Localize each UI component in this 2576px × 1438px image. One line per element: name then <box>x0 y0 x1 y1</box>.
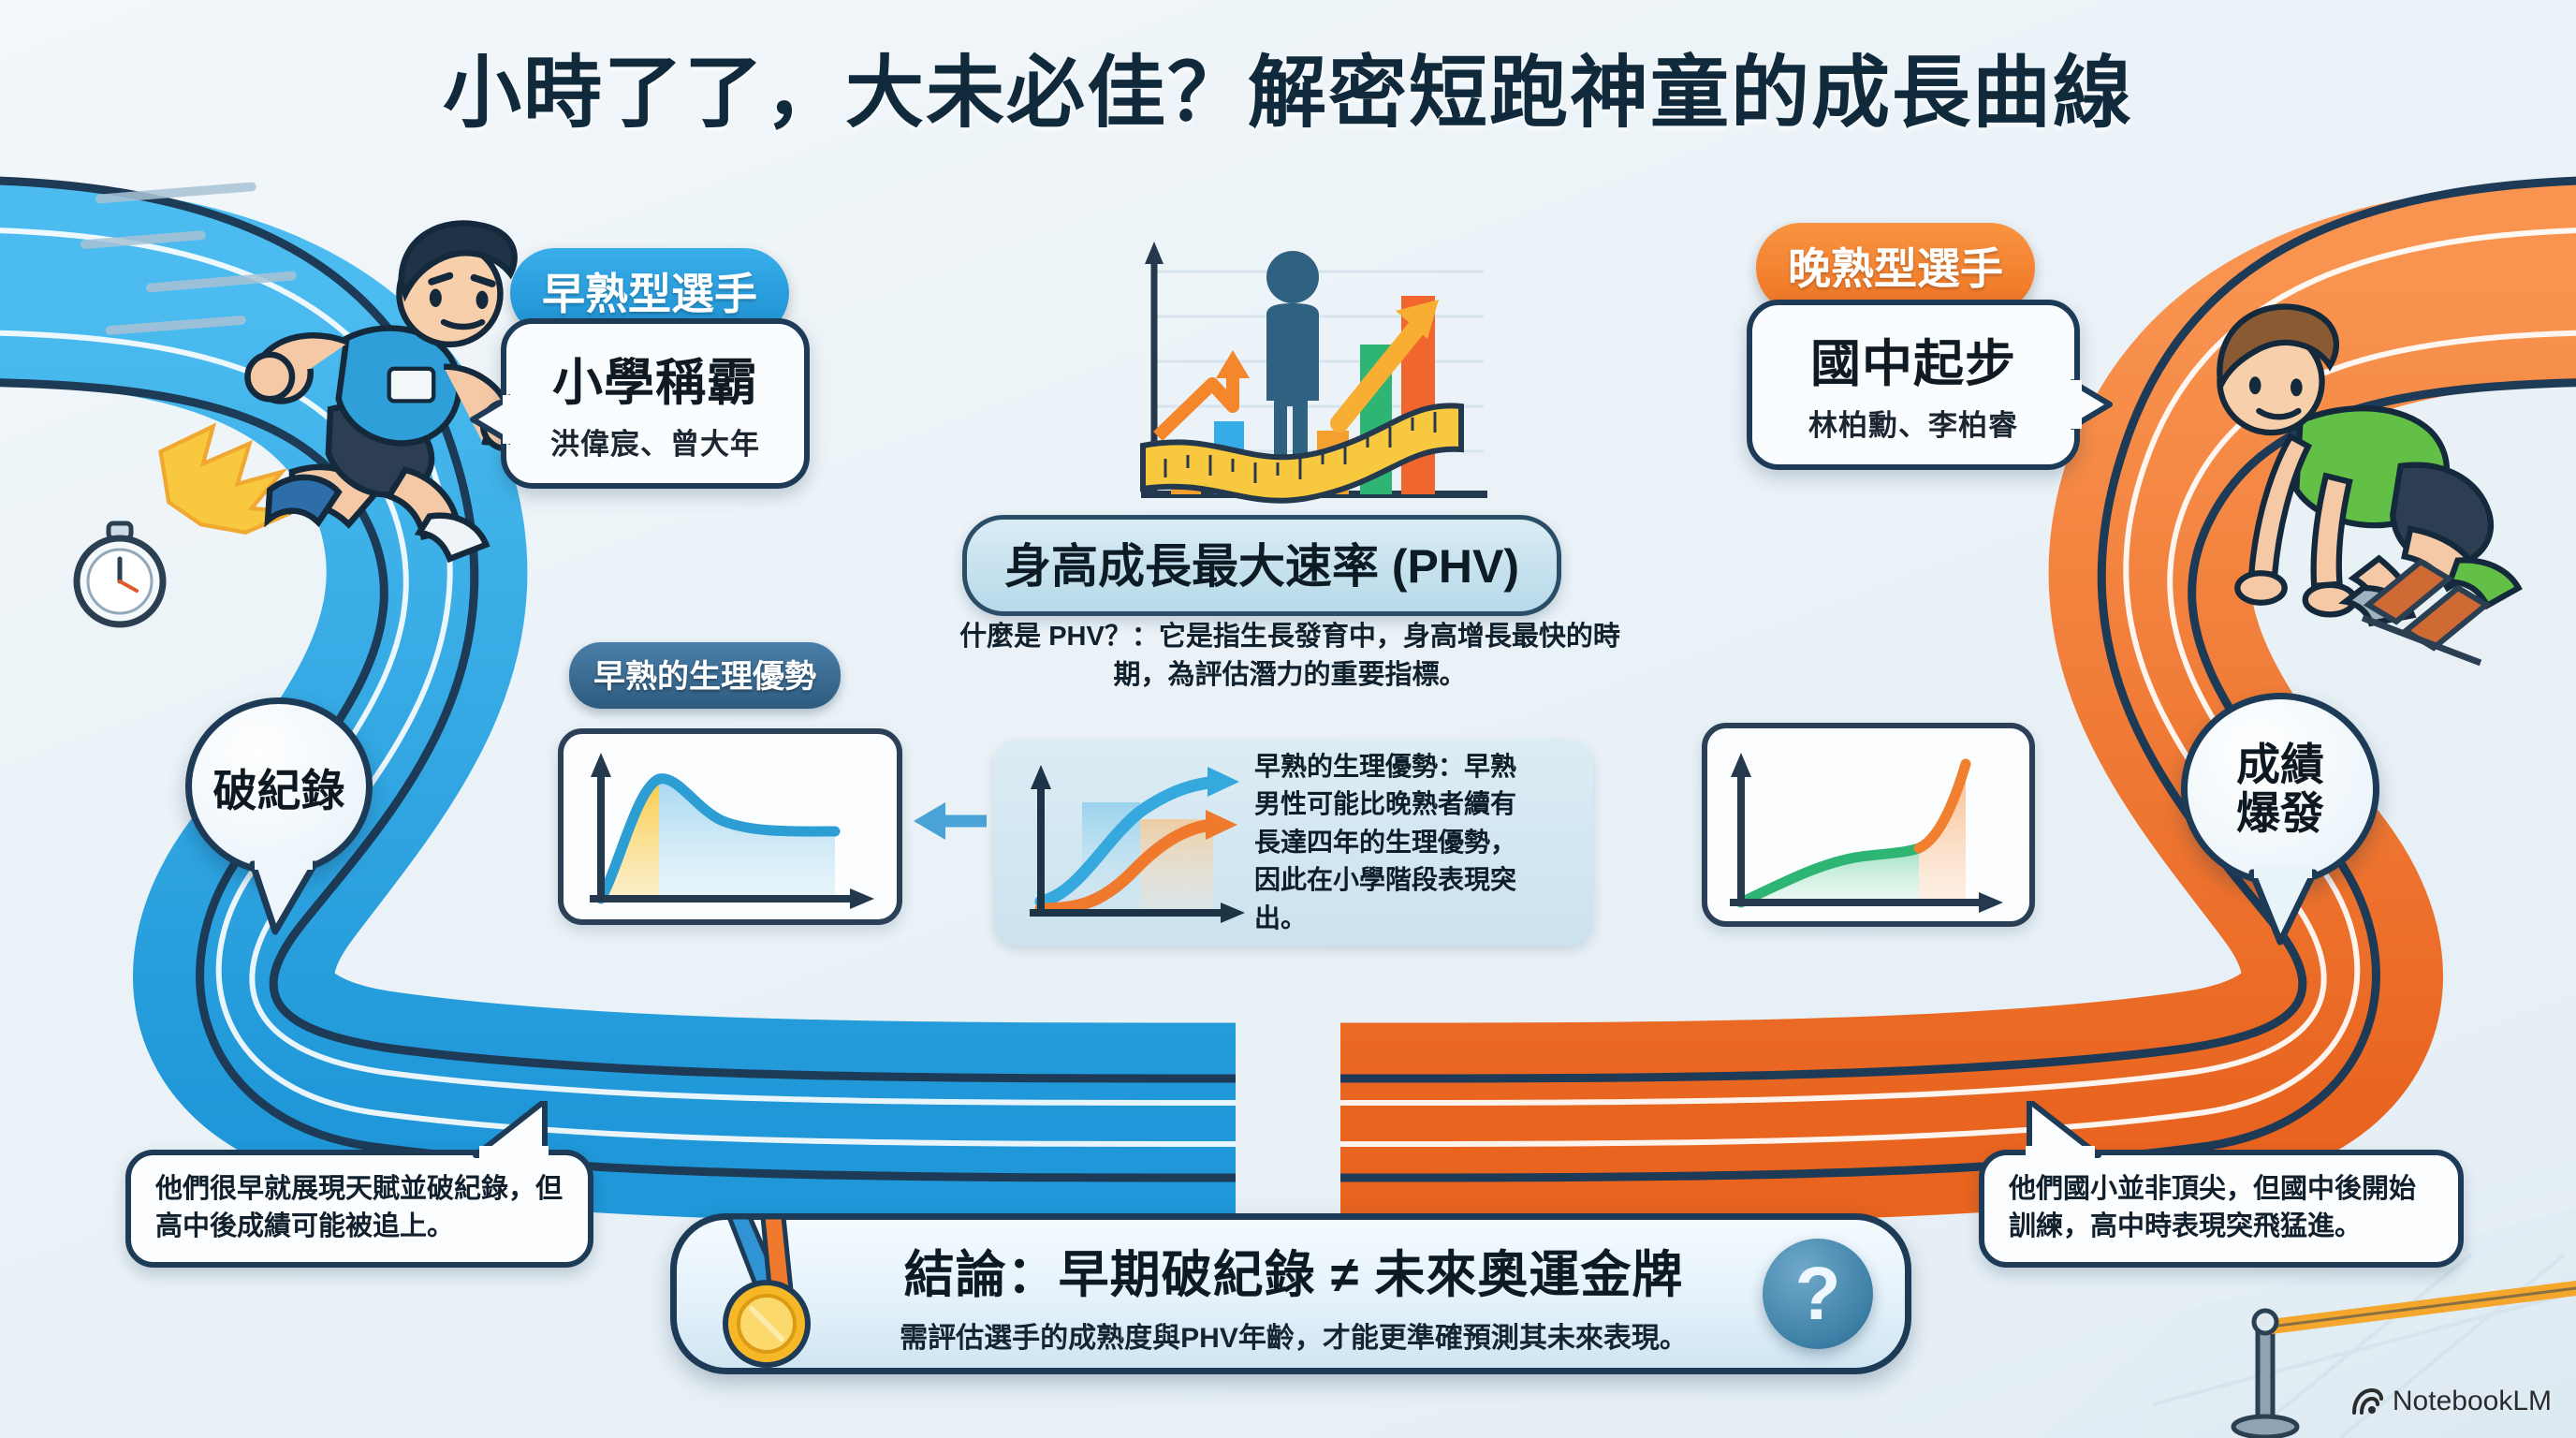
stopwatch-icon <box>77 523 163 624</box>
note-early-maturer: 他們很早就展現天賦並破紀錄，但高中後成績可能被追上。 <box>125 1150 593 1268</box>
chart-early-maturer-curve <box>558 728 902 925</box>
balloon-performance-burst: 成績 爆發 <box>2181 693 2379 886</box>
watermark-label: NotebookLM <box>2393 1386 2552 1417</box>
balloon-burst-line1: 成績 <box>2236 741 2324 789</box>
question-mark-icon: ? <box>1763 1239 1873 1349</box>
arrow-left-icon <box>906 791 990 851</box>
conclusion-main-text: 結論：早期破紀錄 ≠ 未來奧運金牌 <box>834 1233 1753 1307</box>
notebooklm-logo-icon <box>2351 1387 2383 1416</box>
callout-late-title: 國中起步 <box>1784 322 2042 396</box>
conclusion-banner: 結論：早期破紀錄 ≠ 未來奧運金牌 需評估選手的成熟度與PHV年齡，才能更準確預… <box>670 1213 1911 1374</box>
balloon-burst-line2: 爆發 <box>2236 789 2324 838</box>
balloon-break-record-text: 破紀錄 <box>213 755 345 819</box>
callout-tail-right <box>2071 373 2114 438</box>
note-tail-right <box>2022 1101 2112 1159</box>
callout-late-maturer: 國中起步 林柏勳、李柏睿 <box>1747 300 2080 470</box>
note-late-maturer-text: 他們國小並非頂尖，但國中後開始訓練，高中時表現突飛猛進。 <box>1979 1150 2464 1268</box>
note-early-maturer-text: 他們很早就展現天賦並破紀錄，但高中後成績可能被追上。 <box>125 1150 593 1268</box>
explain-box-early-advantage: 早熟的生理優勢：早熟男性可能比晚熟者續有長達四年的生理優勢，因此在小學階段表現突… <box>994 740 1593 946</box>
phv-title-pill: 身高成長最大速率 (PHV) <box>962 515 1561 616</box>
note-late-maturer: 他們國小並非頂尖，但國中後開始訓練，高中時表現突飛猛進。 <box>1979 1150 2464 1268</box>
explain-text: 早熟的生理優勢：早熟男性可能比晚熟者續有長達四年的生理優勢，因此在小學階段表現突… <box>1254 748 1526 938</box>
phv-description: 什麼是 PHV？：它是指生長發育中，身高增長最快的時期，為評估潛力的重要指標。 <box>953 618 1627 695</box>
page-title: 小時了了，大未必佳？解密短跑神童的成長曲線 <box>0 30 2576 143</box>
growth-chart-person-tape-icon <box>1109 213 1502 522</box>
balloon-tail-right <box>2243 867 2323 947</box>
watermark: NotebookLM <box>2351 1386 2552 1417</box>
balloon-break-record: 破紀錄 <box>185 697 373 875</box>
chart-maturation-comparison <box>1003 754 1254 932</box>
infographic-canvas: 小時了了，大未必佳？解密短跑神童的成長曲線 早熟型選手 小學稱霸 洪偉宸、曾大年… <box>0 0 2576 1438</box>
note-tail-left <box>462 1101 552 1159</box>
conclusion-sub-text: 需評估選手的成熟度與PHV年齡，才能更準確預測其未來表現。 <box>834 1314 1753 1356</box>
callout-early-title: 小學稱霸 <box>538 341 772 415</box>
chart-late-maturer-curve <box>1702 723 2035 927</box>
callout-late-names: 林柏勳、李柏睿 <box>1784 402 2042 444</box>
callout-early-maturer: 小學稱霸 洪偉宸、曾大年 <box>501 318 810 489</box>
callout-tail-left <box>469 388 510 453</box>
gold-medal-icon <box>709 1215 825 1372</box>
callout-early-names: 洪偉宸、曾大年 <box>538 420 772 462</box>
balloon-tail-left <box>243 858 324 937</box>
phv-title-label: 身高成長最大速率 (PHV) <box>962 515 1561 616</box>
chart-label-early-advantage: 早熟的生理優勢 <box>569 642 841 709</box>
chart-label-early-advantage-text: 早熟的生理優勢 <box>569 642 841 709</box>
